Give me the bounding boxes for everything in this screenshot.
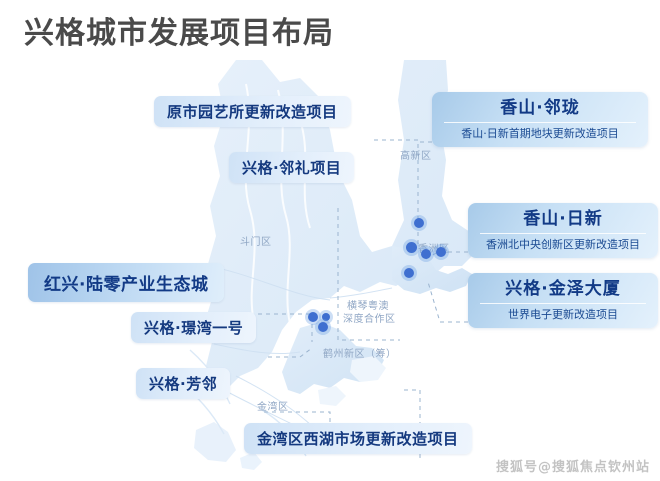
project-label-xingge-linli[interactable]: 兴格·邻礼项目 <box>229 152 354 183</box>
infographic-canvas: 兴格城市发展项目布局 <box>0 0 660 481</box>
district-label-hezhou: 鹤州新区（筹） <box>323 348 397 361</box>
district-label-hengqin-line1: 横琴粤澳 <box>347 300 389 313</box>
watermark-text: 搜狐号@搜狐焦点钦州站 <box>496 456 650 475</box>
project-card-subtitle: 香洲北中央创新区更新改造项目 <box>478 238 648 252</box>
project-label-hongxing-luling[interactable]: 红兴·陆零产业生态城 <box>28 263 224 302</box>
map-marker-3[interactable] <box>421 249 431 259</box>
project-card-xiangshan-rixin[interactable]: 香山·日新 香洲北中央创新区更新改造项目 <box>468 203 658 258</box>
project-label-xingge-fanglin[interactable]: 兴格·芳邻 <box>136 368 230 399</box>
page-title: 兴格城市发展项目布局 <box>24 8 334 52</box>
map-marker-6[interactable] <box>308 312 318 322</box>
project-label-jinwan-xihu[interactable]: 金湾区西湖市场更新改造项目 <box>244 423 472 454</box>
map-marker-8[interactable] <box>318 322 328 332</box>
district-label-hengqin-line2: 深度合作区 <box>343 313 396 326</box>
map-marker-4[interactable] <box>436 247 446 257</box>
project-label-yuanshi-yuanyisuo[interactable]: 原市园艺所更新改造项目 <box>154 96 351 127</box>
district-label-gaoxin: 高新区 <box>400 150 432 163</box>
project-card-title: 香山·日新 <box>478 208 648 230</box>
project-card-xingge-jinze[interactable]: 兴格·金泽大厦 世界电子更新改造项目 <box>468 273 658 328</box>
divider <box>444 122 636 123</box>
map-marker-7[interactable] <box>322 313 330 321</box>
project-card-title: 香山·邻珑 <box>442 97 638 119</box>
project-card-title: 兴格·金泽大厦 <box>478 278 648 300</box>
project-card-subtitle: 世界电子更新改造项目 <box>478 308 648 322</box>
project-card-xiangshan-linlong[interactable]: 香山·邻珑 香山·日新首期地块更新改造项目 <box>432 92 648 147</box>
project-card-subtitle: 香山·日新首期地块更新改造项目 <box>442 127 638 141</box>
divider <box>480 233 646 234</box>
district-label-jinwan: 金湾区 <box>257 401 289 414</box>
divider <box>480 303 646 304</box>
map-marker-2[interactable] <box>406 242 417 253</box>
project-label-xingge-jingwan[interactable]: 兴格·璟湾一号 <box>131 312 256 343</box>
map-marker-5[interactable] <box>404 268 414 278</box>
district-label-doumen: 斗门区 <box>240 236 272 249</box>
map-marker-1[interactable] <box>414 218 424 228</box>
